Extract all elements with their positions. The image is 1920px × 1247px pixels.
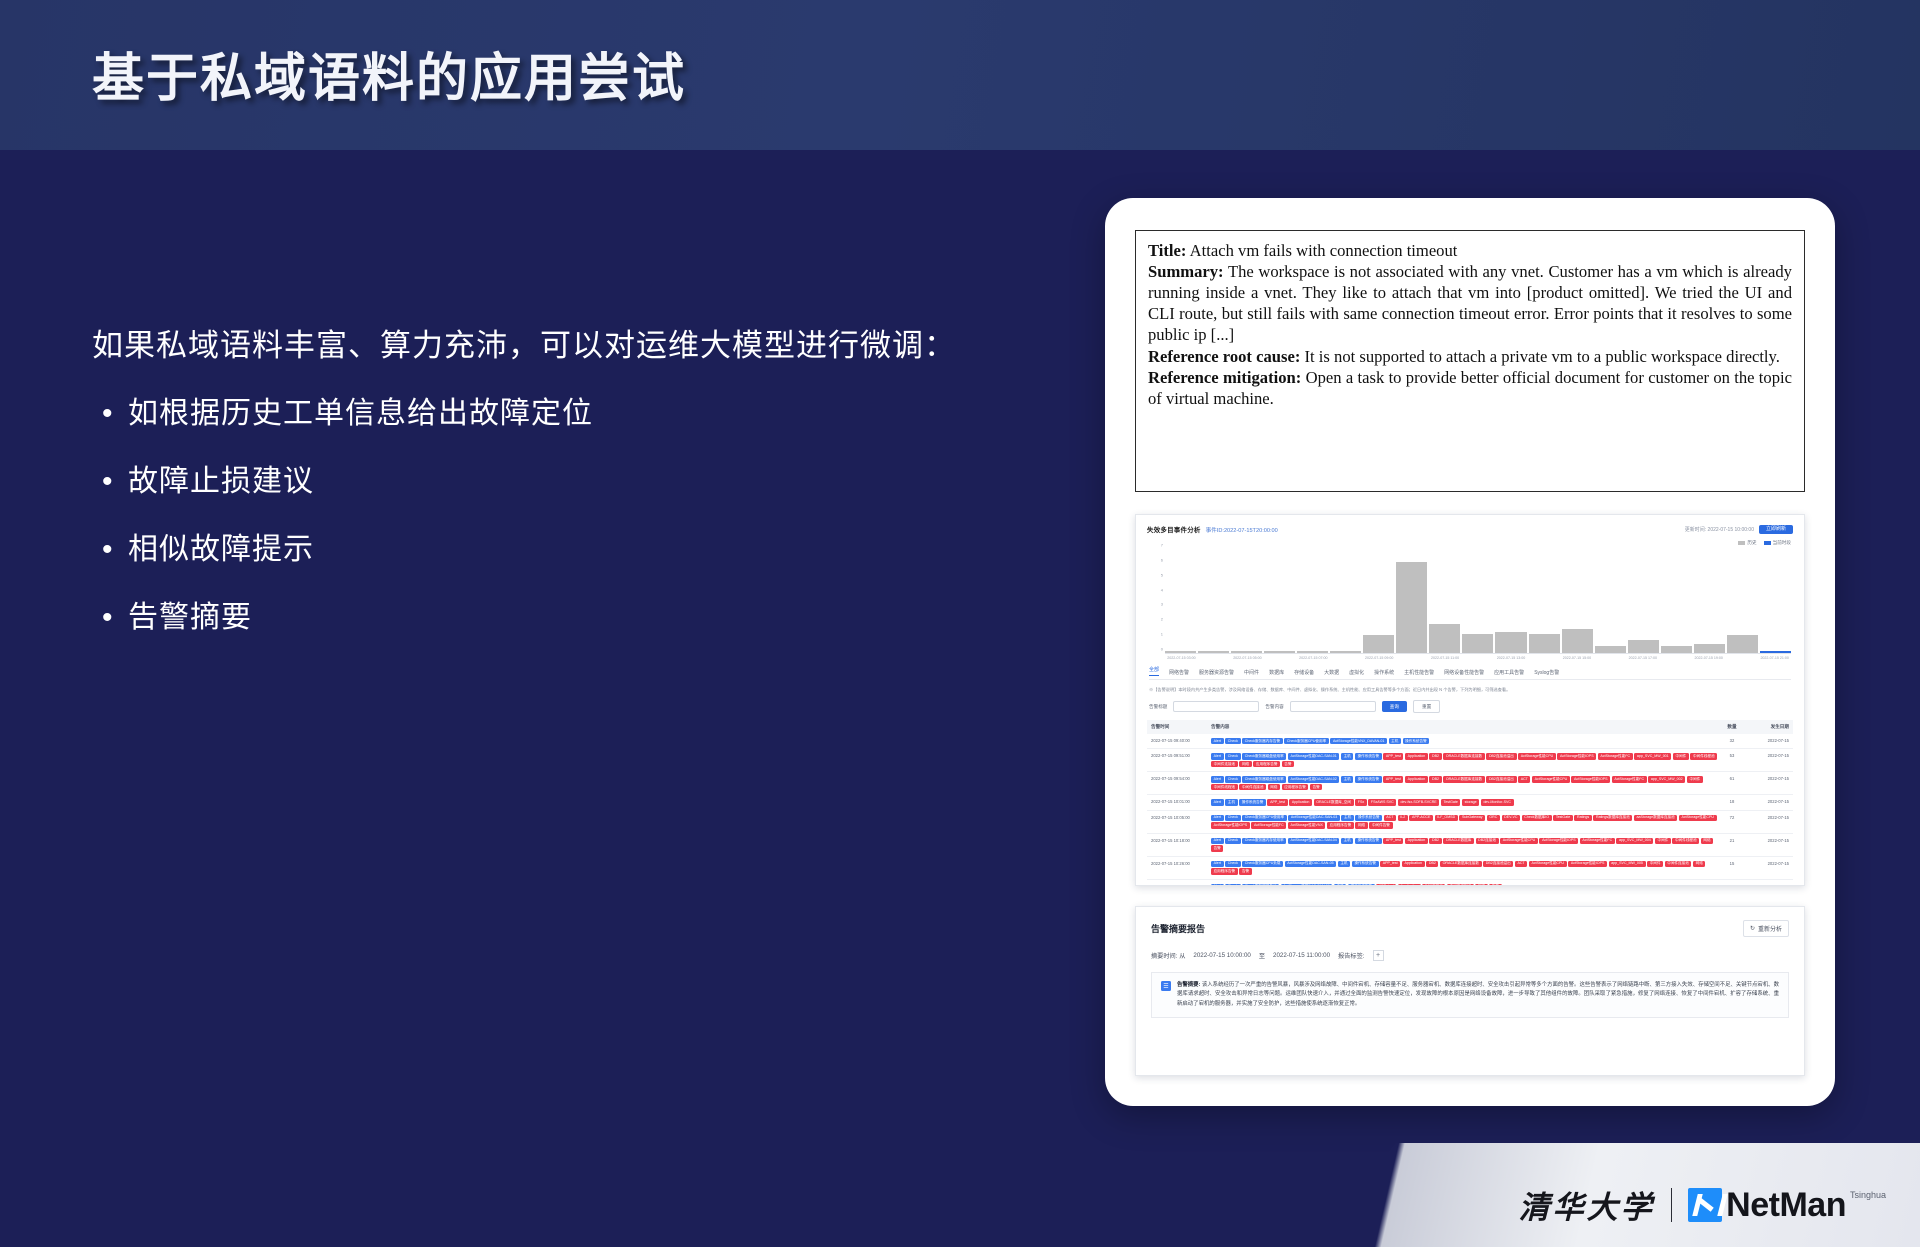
dashboard-tab[interactable]: 网络告警	[1169, 669, 1189, 676]
dashboard-tab[interactable]: 虚拟化	[1349, 669, 1364, 676]
chart-bar	[1495, 632, 1526, 653]
filter-input-title[interactable]	[1173, 701, 1259, 712]
chart-bar-group[interactable]	[1363, 550, 1394, 653]
chart-bar-group[interactable]	[1661, 550, 1692, 653]
slide-root: 基于私域语料的应用尝试 如果私域语料丰富、算力充沛，可以对运维大模型进行微调： …	[0, 0, 1920, 1247]
bullet-marker-icon: •	[102, 597, 128, 639]
filter-input-content[interactable]	[1290, 701, 1376, 712]
alert-tag-pill[interactable]: Alert	[1211, 738, 1224, 744]
alert-tag-pill[interactable]: Check	[1225, 815, 1240, 821]
chart-bar-group[interactable]	[1562, 550, 1593, 653]
legend-swatch-icon	[1738, 541, 1745, 545]
chart-bar	[1661, 646, 1692, 653]
dashboard-tab[interactable]: 网络设备性能告警	[1444, 669, 1484, 676]
alert-tag-pill[interactable]: ACT	[1518, 776, 1530, 782]
alert-tag-pill[interactable]: ACT	[1384, 815, 1396, 821]
alert-tag-pill[interactable]: 应用程序告警	[1282, 784, 1309, 790]
alert-tag-pill[interactable]: Check服务器内存使用率	[1242, 838, 1286, 844]
add-tag-button[interactable]: +	[1373, 950, 1384, 961]
alert-tag-pill[interactable]: 中间件线程池	[1672, 838, 1699, 844]
dashboard-tab[interactable]: 存储设备	[1294, 669, 1314, 676]
alert-tag-pill[interactable]: ORACLE数据库连接数	[1443, 776, 1485, 782]
alert-tag-pill[interactable]: ActStorage性能FC	[1612, 776, 1647, 782]
cell-count: 32	[1719, 738, 1745, 743]
chart-y-tick: 7	[1161, 543, 1163, 548]
chart-plot-area	[1165, 550, 1791, 654]
chart-x-tick	[1330, 656, 1363, 660]
alert-summary-screenshot: 告警摘要报告 ↻ 重新分析 摘要时间: 从 2022-07-15 10:00:0…	[1135, 906, 1805, 1076]
alert-tag-pill[interactable]: Check服务器磁盘使用率	[1242, 776, 1286, 782]
alert-tag-pill[interactable]: DB2连接池溢出	[1486, 753, 1516, 759]
alert-tag-pill[interactable]: 中间件告警	[1369, 822, 1392, 828]
list-item-label: 告警摘要	[128, 597, 252, 639]
netman-wordmark: NetMan	[1726, 1188, 1846, 1222]
cell-count: 21	[1719, 838, 1745, 843]
table-row[interactable]: 2022-07-15 10:26:00AlertCheckCheck服务器CPU…	[1147, 857, 1793, 880]
alert-tag-pill[interactable]: Check	[1225, 884, 1240, 886]
chart-y-tick: 3	[1161, 602, 1163, 607]
legend-label: 当前时段	[1773, 540, 1791, 546]
alert-tag-pill[interactable]: Application	[1405, 753, 1428, 759]
cell-count: 53	[1719, 753, 1745, 758]
alert-tag-pill[interactable]: 主机	[1225, 799, 1237, 805]
alert-tag-pill[interactable]: FSxAWS SVC	[1368, 799, 1396, 805]
alert-tag-pill[interactable]: ActStorage性能CPU	[1500, 838, 1538, 844]
table-row[interactable]: 2022-07-15 09:40:00AlertCheckCheck服务器内存告…	[1147, 734, 1793, 749]
alert-tag-pill[interactable]: Application	[1405, 838, 1428, 844]
chart-legend: 历史 当前时段	[1147, 540, 1791, 546]
chart-x-tick: 2022-07-15 07:00	[1297, 656, 1330, 660]
alert-tag-pill[interactable]: Check	[1225, 738, 1240, 744]
legend-item-current[interactable]: 当前时段	[1764, 540, 1791, 546]
alert-tag-pill[interactable]: 主机	[1338, 861, 1350, 867]
bar-chart: 01234567	[1149, 550, 1791, 654]
alert-tag-pill[interactable]: app_SVC_MW_004	[1616, 838, 1653, 844]
dashboard-tab[interactable]: 全部	[1149, 666, 1159, 676]
alert-tag-pill[interactable]: Alert	[1211, 776, 1224, 782]
alert-tag-pill[interactable]: DB2	[1429, 753, 1441, 759]
chart-x-tick: 2022-07-15 09:00	[1363, 656, 1396, 660]
cell-tags: AlertCheckCheck服务器CPU使用率ActStorage性能DAC-…	[1211, 815, 1719, 829]
chart-bar	[1694, 644, 1725, 653]
alert-tag-pill[interactable]: 操作系统告警	[1348, 884, 1375, 886]
alert-tag-pill[interactable]: 主机	[1334, 884, 1346, 886]
chart-bar-group[interactable]	[1165, 550, 1196, 653]
alert-tag-pill[interactable]: TestGate	[1441, 799, 1461, 805]
alert-tag-pill[interactable]: ActStorage性能IOPS	[1568, 861, 1607, 867]
alert-tag-pill[interactable]: Alert	[1211, 753, 1224, 759]
alert-tag-pill[interactable]: Check服务器CPU使用率	[1242, 815, 1287, 821]
logo-divider	[1671, 1188, 1673, 1222]
dashboard-tabs: 全部网络告警服务器资源告警中间件数据库存储设备大数据虚拟化操作系统主机性能告警网…	[1149, 666, 1791, 680]
alert-tag-pill[interactable]: Check服务器磁盘IO	[1242, 884, 1279, 886]
alert-tag-pill[interactable]: ActStorage性能VNX_DAVAN-01	[1330, 738, 1387, 744]
document-icon: ☰	[1161, 981, 1171, 991]
alert-tag-pill[interactable]: ActStorage性能DAC-SAN-05	[1285, 861, 1337, 867]
list-item-label: 如根据历史工单信息给出故障定位	[128, 393, 593, 435]
refresh-button[interactable]: 立即刷新	[1759, 525, 1793, 534]
netman-logo-icon	[1688, 1188, 1722, 1222]
alert-tag-pill[interactable]: ActStorage性能FC	[1580, 838, 1615, 844]
dashboard-note: ※【告警说明】本时段内共产生多类告警，涉及网络设备、存储、数据库、中间件、虚拟化…	[1149, 687, 1791, 693]
cell-tags: AlertCheckCheck服务器磁盘IOActStorage性能DAC-SA…	[1211, 884, 1719, 886]
alert-tag-pill[interactable]: app_SVC_MW_001	[1634, 753, 1671, 759]
alert-tag-pill[interactable]: 中间件	[1655, 838, 1671, 844]
cell-time: 2022-07-15 10:26:00	[1151, 861, 1211, 866]
alert-tag-pill[interactable]: ActStorage性能DAC-SAN-04	[1288, 838, 1340, 844]
cell-count: 18	[1719, 799, 1745, 804]
chart-x-tick: 2022-07-15 05:00	[1231, 656, 1264, 660]
chart-bar-group[interactable]	[1231, 550, 1262, 653]
chart-x-tick: 2022-07-15 03:00	[1165, 656, 1198, 660]
cell-tags: AlertCheckCheck服务器内存使用率ActStorage性能DAC-S…	[1211, 838, 1719, 852]
chart-y-tick: 6	[1161, 557, 1163, 562]
alert-tag-pill[interactable]: ORACLE数据库连接数	[1440, 861, 1482, 867]
summary-meta: 摘要时间: 从 2022-07-15 10:00:00 至 2022-07-15…	[1151, 950, 1789, 961]
alert-tag-pill[interactable]: 应用程序告警	[1211, 868, 1238, 874]
cell-count: 61	[1719, 776, 1745, 781]
dashboard-title: 失效多目事件分析	[1147, 524, 1201, 534]
summary-body: ☰ 告警摘要: 该入系统经历了一次严重的告警风暴，风暴涉及网络故障、中间件宕机、…	[1151, 972, 1789, 1018]
alert-tag-pill[interactable]: FSx	[1355, 799, 1367, 805]
reanalyze-button[interactable]: ↻ 重新分析	[1743, 920, 1789, 937]
alert-tag-pill[interactable]: ActStorage性能DAC-SAN-03	[1288, 815, 1340, 821]
alert-tag-pill[interactable]: 告警	[1489, 884, 1501, 886]
ticket-mitigation-line: Reference mitigation: Open a task to pro…	[1148, 368, 1792, 410]
chart-bar	[1462, 634, 1493, 653]
alert-tag-pill[interactable]: ORACLE数据库_空间	[1314, 799, 1354, 805]
chart-bar	[1330, 651, 1361, 653]
alert-tag-pill[interactable]: ORC	[1487, 815, 1500, 821]
alert-tag-pill[interactable]: 主机	[1341, 776, 1353, 782]
summary-body-label: 告警摘要:	[1177, 982, 1200, 988]
cell-date: 2022-07-15	[1745, 799, 1789, 804]
alert-tag-pill[interactable]: ActStorage性能IOPS	[1557, 753, 1596, 759]
summary-body-content: 该入系统经历了一次严重的告警风暴，风暴涉及网络故障、中间件宕机、存储容量不足、服…	[1177, 982, 1779, 1007]
cell-tags: Alert主机操作系统告警APP_testApplicationORACLE数据…	[1211, 799, 1719, 805]
alerts-table: 告警时间 告警内容 数量 发生日期 2022-07-15 09:40:00Ale…	[1147, 720, 1793, 886]
lead-paragraph: 如果私域语料丰富、算力充沛，可以对运维大模型进行微调：	[92, 320, 1052, 365]
cell-date: 2022-07-15	[1745, 861, 1789, 866]
alert-tag-pill[interactable]: Alert	[1211, 861, 1224, 867]
alert-tag-pill[interactable]: 操作系统告警	[1239, 799, 1266, 805]
dashboard-tab[interactable]: Syslog告警	[1534, 669, 1559, 676]
ticket-summary-line: Summary: The workspace is not associated…	[1148, 262, 1792, 346]
dashboard-header: 失效多目事件分析 事件ID:2022-07-15T20:00:00 更新时间: …	[1147, 524, 1793, 534]
summary-tag-label: 报告标签:	[1338, 951, 1364, 960]
list-item: • 如根据历史工单信息给出故障定位	[102, 393, 1052, 435]
chart-bar-group[interactable]	[1429, 550, 1460, 653]
cell-count: 12	[1719, 884, 1745, 886]
content-column: 如果私域语料丰富、算力充沛，可以对运维大模型进行微调： • 如根据历史工单信息给…	[92, 320, 1052, 665]
alert-tag-pill[interactable]: DB2连接池	[1476, 838, 1499, 844]
alert-tag-pill[interactable]: ActStorage性能FC	[1251, 822, 1286, 828]
dashboard-tab[interactable]: 应用工具告警	[1494, 669, 1524, 676]
chart-x-tick: 2022-07-15 15:00	[1560, 656, 1593, 660]
cell-time: 2022-07-15 10:01:00	[1151, 799, 1211, 804]
alert-tag-pill[interactable]: 网络	[1239, 761, 1251, 767]
alert-tag-pill[interactable]: Check	[1225, 753, 1240, 759]
chart-bar-group[interactable]	[1727, 550, 1758, 653]
alert-tag-pill[interactable]: Check服务器CPU使用率	[1284, 738, 1329, 744]
alert-tag-pill[interactable]: ActStorage性能CPU	[1679, 815, 1717, 821]
alert-tag-pill[interactable]: DB2	[1429, 838, 1441, 844]
alert-tag-pill[interactable]: 操作系统告警	[1355, 815, 1382, 821]
cell-tags: AlertCheckCheck服务器CPU负载ActStorage性能DAC-S…	[1211, 861, 1719, 875]
chart-x-tick: 2022-07-15 11:00	[1429, 656, 1462, 660]
table-row[interactable]: 2022-07-15 09:54:00AlertCheckCheck服务器磁盘使…	[1147, 772, 1793, 795]
alert-tag-pill[interactable]: ActStorage性能FC	[1598, 753, 1633, 759]
alert-tag-pill[interactable]: ActStorage性能IOPS	[1211, 822, 1250, 828]
alert-tag-pill[interactable]: storage	[1462, 799, 1479, 805]
reanalyze-label: 重新分析	[1758, 924, 1782, 933]
alert-tag-pill[interactable]: ActStorage性能CPU	[1532, 776, 1570, 782]
alert-tag-pill[interactable]: Application	[1405, 776, 1428, 782]
list-item: • 相似故障提示	[102, 529, 1052, 571]
dashboard-tab[interactable]: 服务器资源告警	[1199, 669, 1234, 676]
list-item-label: 故障止损建议	[128, 461, 314, 503]
table-row[interactable]: 2022-07-15 10:33:00AlertCheckCheck服务器磁盘I…	[1147, 880, 1793, 886]
chart-x-tick	[1462, 656, 1495, 660]
bullet-marker-icon: •	[102, 393, 128, 435]
cell-tags: AlertCheckCheck服务器磁盘使用率ActStorage性能DAC-S…	[1211, 776, 1719, 790]
alert-tag-pill[interactable]: app_SVC_MW_002	[1648, 776, 1685, 782]
netman-superscript: Tsinghua	[1850, 1190, 1886, 1200]
dashboard-tab[interactable]: 主机性能告警	[1404, 669, 1434, 676]
dashboard-tab[interactable]: 大数据	[1324, 669, 1339, 676]
cell-time: 2022-07-15 10:18:00	[1151, 838, 1211, 843]
ticket-rootcause-label: Reference root cause:	[1148, 347, 1300, 366]
alert-tag-pill[interactable]: 主机	[1341, 838, 1353, 844]
dashboard-tab[interactable]: 中间件	[1244, 669, 1259, 676]
alert-tag-pill[interactable]: aaStorage数据库连接池	[1634, 815, 1677, 821]
footer-logos: 清华大学 NetMan Tsinghua	[1519, 1182, 1886, 1227]
ticket-rootcause-text: It is not supported to attach a private …	[1305, 347, 1780, 366]
bullet-marker-icon: •	[102, 461, 128, 503]
cell-date: 2022-07-15	[1745, 738, 1789, 743]
summary-range-label: 摘要时间: 从	[1151, 951, 1185, 960]
chart-bar-group[interactable]	[1595, 550, 1626, 653]
alert-tag-pill[interactable]: Ratings数据库连接池	[1593, 815, 1632, 821]
table-row[interactable]: 2022-07-15 10:01:00Alert主机操作系统告警APP_test…	[1147, 795, 1793, 810]
chart-bar-group[interactable]	[1330, 550, 1361, 653]
alert-tag-pill[interactable]: APP_test	[1383, 838, 1403, 844]
ticket-summary-text: The workspace is not associated with any…	[1148, 262, 1792, 344]
alert-tag-pill[interactable]: ActStorage性能DAC-SAN-02	[1288, 776, 1340, 782]
chart-bar	[1760, 651, 1791, 653]
alert-tag-pill[interactable]: 告警	[1310, 784, 1322, 790]
alert-tag-pill[interactable]: DB2	[1426, 861, 1438, 867]
chart-bar	[1727, 635, 1758, 653]
legend-item-history[interactable]: 历史	[1738, 540, 1756, 546]
alert-tag-pill[interactable]: Check数据库IO	[1522, 815, 1552, 821]
alert-tag-pill[interactable]: 操作系统告警	[1355, 838, 1382, 844]
ticket-sample-box: Title: Attach vm fails with connection t…	[1135, 230, 1805, 492]
chart-bar-group[interactable]	[1495, 550, 1526, 653]
search-button[interactable]: 查询	[1382, 701, 1407, 712]
alert-tag-pill[interactable]: 中间件连接池	[1665, 861, 1692, 867]
alert-tag-pill[interactable]: 主机	[1389, 738, 1401, 744]
reset-button[interactable]: 重置	[1413, 700, 1440, 713]
chart-bar-group[interactable]	[1462, 550, 1493, 653]
chart-y-tick: 2	[1161, 617, 1163, 622]
bullet-marker-icon: •	[102, 529, 128, 571]
alert-tag-pill[interactable]: 应用程序告警	[1253, 761, 1280, 767]
alert-tag-pill[interactable]: DB2连接池溢出	[1486, 776, 1516, 782]
alert-tag-pill[interactable]: 操作系统告警	[1355, 776, 1382, 782]
alert-tag-pill[interactable]: DB2连接池溢出	[1483, 861, 1513, 867]
alert-tag-pill[interactable]: 操作系统告警	[1355, 753, 1382, 759]
cell-date: 2022-07-15	[1745, 753, 1789, 758]
ticket-title-label: Title:	[1148, 241, 1186, 260]
tsinghua-university-logo: 清华大学	[1519, 1182, 1655, 1227]
chart-x-tick: 2022-07-15 21:00	[1758, 656, 1791, 660]
alert-tag-pill[interactable]: 主机	[1341, 753, 1353, 759]
alert-tag-pill[interactable]: SubGateway	[1459, 815, 1485, 821]
table-body: 2022-07-15 09:40:00AlertCheckCheck服务器内存告…	[1147, 734, 1793, 886]
ticket-rootcause-line: Reference root cause: It is not supporte…	[1148, 347, 1792, 368]
alert-tag-pill[interactable]: 告警	[1211, 845, 1223, 851]
alert-tag-pill[interactable]: Check	[1225, 861, 1240, 867]
legend-label: 历史	[1747, 540, 1756, 546]
alert-tag-pill[interactable]: dev-fsx-SOFB-SVCRE	[1398, 799, 1439, 805]
chart-bar-group[interactable]	[1628, 550, 1659, 653]
chart-bar-group[interactable]	[1198, 550, 1229, 653]
alert-tag-pill[interactable]: Check服务器CPU负载	[1242, 861, 1283, 867]
alert-tag-pill[interactable]: APP_test	[1380, 861, 1400, 867]
cell-count: 15	[1719, 861, 1745, 866]
ticket-title-text: Attach vm fails with connection timeout	[1190, 241, 1458, 260]
cell-tags: AlertCheckCheck服务器磁盘使用率ActStorage性能DAC-S…	[1211, 753, 1719, 767]
alert-tag-pill[interactable]: 中间件	[1647, 861, 1663, 867]
alert-tag-pill[interactable]: IL2	[1398, 815, 1408, 821]
page-title: 基于私域语料的应用尝试	[92, 36, 686, 111]
table-row[interactable]: 2022-07-15 10:18:00AlertCheckCheck服务器内存使…	[1147, 834, 1793, 857]
alert-tag-pill[interactable]: ActStorage性能DAC-SAN-01	[1288, 753, 1340, 759]
alert-tag-pill[interactable]: 主机	[1341, 815, 1353, 821]
filter-label-title: 告警标题	[1149, 704, 1167, 710]
alert-tag-pill[interactable]: ActStorage性能VNX	[1288, 822, 1326, 828]
alert-tag-pill[interactable]: ActStorage性能CPU	[1518, 753, 1556, 759]
chart-bar	[1628, 640, 1659, 653]
list-item-label: 相似故障提示	[128, 529, 314, 571]
cell-time: 2022-07-15 09:54:00	[1151, 776, 1211, 781]
alert-tag-pill[interactable]: 告警	[1282, 761, 1294, 767]
alert-tag-pill[interactable]: 中间件线程池	[1690, 753, 1717, 759]
alert-tag-pill[interactable]: APP_test	[1383, 776, 1403, 782]
legend-swatch-icon	[1764, 541, 1771, 545]
alert-tag-pill[interactable]: dev-Monitor-SVC	[1481, 799, 1514, 805]
chart-bar-group[interactable]	[1529, 550, 1560, 653]
chart-bar	[1165, 651, 1196, 653]
alert-tag-pill[interactable]: 中间件	[1673, 753, 1689, 759]
alert-tag-pill[interactable]: 网络	[1355, 822, 1367, 828]
ticket-summary-label: Summary:	[1148, 262, 1224, 281]
alert-tag-pill[interactable]: Alert	[1211, 884, 1224, 886]
alert-tag-pill[interactable]: Alert	[1211, 838, 1224, 844]
dashboard-timestamp: 更新时间: 2022-07-15 10:00:00	[1685, 526, 1754, 533]
alert-tag-pill[interactable]: 应用程序告警	[1327, 822, 1354, 828]
alert-tag-pill[interactable]: 中间件连接池	[1211, 761, 1238, 767]
chart-x-tick: 2022-07-15 19:00	[1692, 656, 1725, 660]
alert-tag-pill[interactable]: Ratings	[1574, 815, 1591, 821]
chart-bar-group[interactable]	[1264, 550, 1295, 653]
dashboard-subtitle: 事件ID:2022-07-15T20:00:00	[1206, 526, 1278, 534]
alert-tag-pill[interactable]: app_SVC_MW_005	[1609, 861, 1646, 867]
alert-tag-pill[interactable]: DEV-VC	[1502, 815, 1521, 821]
chart-bar-group[interactable]	[1396, 550, 1427, 653]
refresh-icon: ↻	[1750, 925, 1755, 932]
alert-tag-pill[interactable]: Application	[1402, 861, 1425, 867]
chart-bar-group[interactable]	[1694, 550, 1725, 653]
alert-tag-pill[interactable]: DB2	[1429, 776, 1441, 782]
alert-tag-pill[interactable]: Alert	[1211, 799, 1224, 805]
alert-tag-pill[interactable]: ORACLE数据库连接数	[1443, 753, 1485, 759]
alert-tag-pill[interactable]: 告警	[1239, 868, 1251, 874]
chart-bar	[1297, 651, 1328, 653]
alert-tag-pill[interactable]: 中间件	[1687, 776, 1703, 782]
alert-tag-pill[interactable]: ACT	[1515, 861, 1527, 867]
alert-tag-pill[interactable]: 中间件线程池	[1447, 884, 1474, 886]
table-row[interactable]: 2022-07-15 09:51:00AlertCheckCheck服务器磁盘使…	[1147, 749, 1793, 772]
alert-tag-pill[interactable]: 操作系统告警	[1352, 861, 1379, 867]
alert-tag-pill[interactable]: TestGate	[1553, 815, 1573, 821]
chart-bar-group[interactable]	[1297, 550, 1328, 653]
alert-tag-pill[interactable]: Check服务器内存告警	[1242, 738, 1283, 744]
alert-tag-pill[interactable]: 网络	[1268, 784, 1280, 790]
alert-tag-pill[interactable]: 网络	[1475, 884, 1487, 886]
table-row[interactable]: 2022-07-15 10:05:00AlertCheckCheck服务器CPU…	[1147, 811, 1793, 834]
alert-tag-pill[interactable]: ActStorage性能DAC-SAN-06	[1281, 884, 1333, 886]
alert-tag-pill[interactable]: Application	[1289, 799, 1312, 805]
alert-tag-pill[interactable]: 中间件连接池	[1239, 784, 1266, 790]
alert-tag-pill[interactable]: 操作系统告警	[1403, 738, 1430, 744]
cell-date: 2022-07-15	[1745, 838, 1789, 843]
alert-tag-pill[interactable]: APP-ACCE	[1409, 815, 1433, 821]
alert-tag-pill[interactable]: APP_test	[1383, 753, 1403, 759]
chart-y-axis: 01234567	[1149, 550, 1165, 654]
alert-tag-pill[interactable]: 网络	[1701, 838, 1713, 844]
cell-time: 2022-07-15 10:05:00	[1151, 815, 1211, 820]
alert-tag-pill[interactable]: ActStorage性能IOPS	[1571, 776, 1610, 782]
dashboard-tab[interactable]: 操作系统	[1374, 669, 1394, 676]
ticket-title-line: Title: Attach vm fails with connection t…	[1148, 241, 1792, 262]
dashboard-tab[interactable]: 数据库	[1269, 669, 1284, 676]
alert-tag-pill[interactable]: Check服务器磁盘使用率	[1242, 753, 1286, 759]
alert-tag-pill[interactable]: ActStorage性能CPU	[1529, 861, 1567, 867]
filter-row: 告警标题 告警内容 查询 重置	[1149, 700, 1791, 713]
chart-y-tick: 0	[1161, 647, 1163, 652]
chart-bar-group[interactable]	[1760, 550, 1791, 653]
alert-tag-pill[interactable]: Check	[1225, 838, 1240, 844]
cell-time: 2022-07-15 09:51:00	[1151, 753, 1211, 758]
summary-range-to: 2022-07-15 11:00:00	[1273, 952, 1330, 959]
summary-range-from: 2022-07-15 10:00:00	[1193, 952, 1250, 959]
alert-tag-pill[interactable]: Check	[1225, 776, 1240, 782]
alert-tag-pill[interactable]: ActStorage性能IOPS	[1539, 838, 1578, 844]
alert-tag-pill[interactable]: Alert	[1211, 815, 1224, 821]
alert-tag-pill[interactable]: APP_test	[1376, 884, 1396, 886]
alert-tag-pill[interactable]: 中间件线程池	[1211, 784, 1238, 790]
alert-tag-pill[interactable]: APP_test	[1267, 799, 1287, 805]
alert-tag-pill[interactable]: ILF_OMSD	[1435, 815, 1458, 821]
alert-tag-pill[interactable]: 网络	[1693, 861, 1705, 867]
alert-tag-pill[interactable]: ORACLE数据库	[1443, 838, 1474, 844]
alert-tag-pill[interactable]: Application	[1398, 884, 1421, 886]
chart-bar	[1396, 562, 1427, 653]
alert-tag-pill[interactable]: DB2连接池	[1422, 884, 1445, 886]
chart-y-tick: 1	[1161, 632, 1163, 637]
